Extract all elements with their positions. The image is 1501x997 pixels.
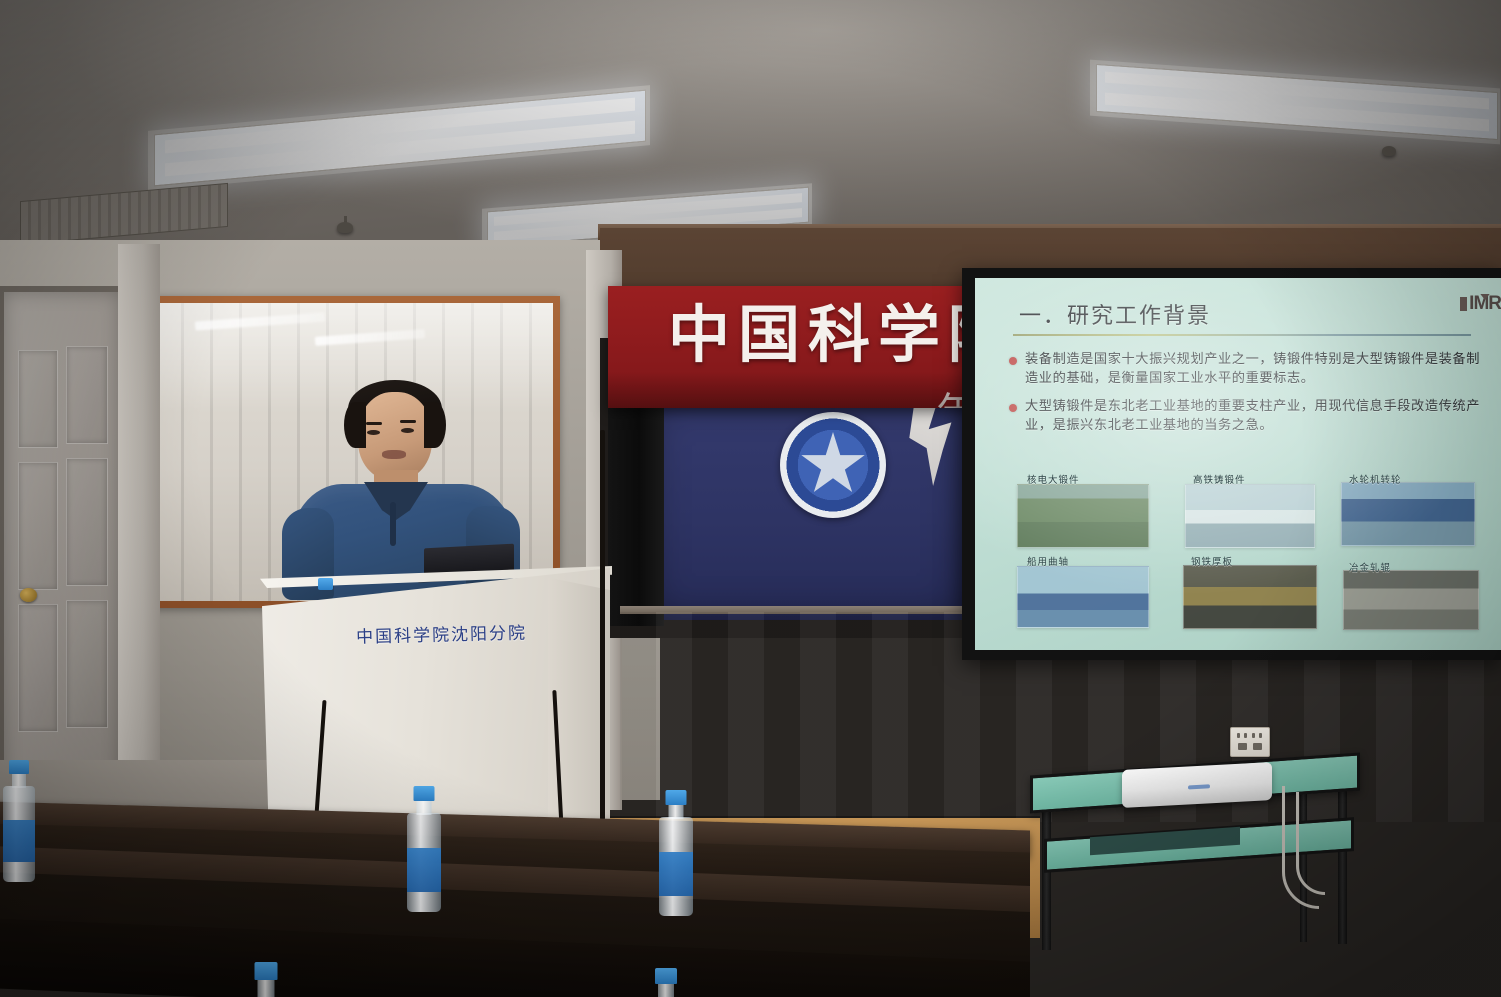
presenter-hair-right: [424, 402, 446, 448]
outlet-slot-3: [1252, 733, 1255, 738]
cas-star-glyph: [800, 432, 866, 498]
projection-screen: 一．研究工作背景 IMR 装备制造是国家十大振兴规划产业之一，铸锻件特别是大型铸…: [975, 278, 1501, 650]
bottle-cap: [655, 968, 677, 984]
gallery-photo-1: [1017, 484, 1149, 548]
door-panel-bottom-left: [18, 604, 58, 732]
bullet-dot-icon: [1009, 404, 1017, 412]
gallery-photo-4: [1017, 566, 1149, 628]
slide-bullet-text-2: 大型铸锻件是东北老工业基地的重要支柱产业，用现代信息手段改造传统产业，是振兴东北…: [1025, 397, 1487, 435]
slide-bullet-item: 大型铸锻件是东北老工业基地的重要支柱产业，用现代信息手段改造传统产业，是振兴东北…: [1009, 397, 1487, 435]
banner-fold-shadow: [608, 372, 980, 408]
slide-bullet-text-1: 装备制造是国家十大振兴规划产业之一，铸锻件特别是大型铸锻件是装备制造业的基础，是…: [1025, 350, 1487, 388]
door-panel-top-left: [18, 350, 58, 448]
imr-logo: IMR: [1460, 294, 1501, 314]
bottle-neck: [658, 984, 674, 997]
slide-bullet-item: 装备制造是国家十大振兴规划产业之一，铸锻件特别是大型铸锻件是装备制造业的基础，是…: [1009, 350, 1487, 388]
gallery-label-3: 水轮机转轮: [1349, 472, 1402, 486]
bottle-cap: [255, 962, 278, 980]
wall-power-outlet[interactable]: [1230, 727, 1270, 757]
outlet-slot-1: [1237, 733, 1240, 738]
white-av-unit[interactable]: [1122, 762, 1272, 808]
presenter-eye-left: [367, 430, 380, 435]
presenter-mouth: [382, 450, 406, 459]
imr-logo-square: [1460, 297, 1467, 311]
gallery-label-6: 冶金轧辊: [1349, 560, 1391, 574]
banner-text: 中国科学院: [668, 304, 980, 366]
door-panel-mid-left: [18, 462, 58, 590]
cas-emblem: [780, 412, 886, 518]
presenter-brow-right: [400, 420, 416, 423]
gallery-label-5: 钢铁厚板: [1191, 554, 1233, 568]
conference-room-photo: 中国科学院 年 一．研究工作背景 IMR 装备制造是国家十大振兴规划产业之一，铸…: [0, 0, 1501, 997]
water-bottle[interactable]: [0, 760, 38, 882]
presenter-hair-left: [344, 402, 366, 448]
gallery-label-2: 高铁铸锻件: [1193, 472, 1246, 486]
gallery-cell-ship: 船用曲轴: [999, 554, 1157, 632]
slide-image-gallery: 核电大锻件 高铁铸锻件 水轮机转轮 船用曲轴 钢铁厚板 冶金轧辊: [999, 470, 1493, 626]
av-table-leg-right: [1338, 774, 1347, 944]
presenter-brow-left: [366, 422, 382, 425]
gallery-photo-5: [1183, 565, 1317, 629]
podium-bottle-cap: [318, 578, 333, 590]
white-panel-door[interactable]: [4, 292, 120, 784]
outlet-socket-right: [1253, 743, 1262, 750]
outlet-socket-left: [1238, 743, 1247, 750]
slide-title-underline: [1013, 334, 1471, 336]
presenter-placket: [390, 502, 396, 546]
door-panel-mid-right: [66, 458, 108, 586]
outlet-slot-2: [1244, 733, 1247, 738]
av-cable-2: [1296, 792, 1325, 895]
gallery-cell-steel: 钢铁厚板: [1171, 554, 1329, 632]
slide-title: 一．研究工作背景: [1019, 298, 1211, 330]
bottle-cap: [666, 790, 687, 805]
gallery-photo-6: [1343, 570, 1479, 630]
water-bottle-partial[interactable]: [246, 962, 286, 997]
av-unit-indicator: [1188, 784, 1210, 789]
bullet-dot-icon: [1009, 357, 1017, 365]
door-panel-bottom-right: [66, 600, 108, 728]
bottle-label: [407, 848, 441, 892]
presenter-eye-right: [401, 428, 414, 433]
red-event-banner: 中国科学院 年: [608, 286, 980, 408]
bottle-label: [3, 820, 35, 862]
gallery-label-1: 核电大锻件: [1027, 472, 1080, 486]
bottle-label: [659, 852, 693, 896]
gallery-photo-2: [1185, 484, 1315, 548]
water-bottle[interactable]: [656, 790, 696, 916]
slide-bullet-list: 装备制造是国家十大振兴规划产业之一，铸锻件特别是大型铸锻件是装备制造业的基础，是…: [1009, 350, 1487, 445]
bottle-cap: [9, 760, 29, 774]
gallery-cell-turbine: 水轮机转轮: [1339, 470, 1497, 548]
gallery-label-4: 船用曲轴: [1027, 554, 1069, 568]
door-panel-top-right: [66, 346, 108, 444]
door-knob[interactable]: [20, 588, 37, 602]
presenter-head: [358, 392, 432, 480]
wall-pillar-left: [118, 244, 160, 819]
bottle-neck: [258, 980, 275, 997]
water-bottle-partial[interactable]: [646, 968, 686, 997]
gallery-cell-train: 高铁铸锻件: [1171, 470, 1329, 548]
outlet-slot-4: [1259, 733, 1262, 738]
water-bottle[interactable]: [404, 786, 444, 912]
imr-logo-triangle: [1478, 294, 1492, 300]
gallery-cell-roll: 冶金轧辊: [1339, 554, 1497, 632]
gallery-photo-3: [1341, 482, 1475, 546]
floor-cable-3: [600, 430, 605, 820]
bottle-cap: [414, 786, 435, 801]
gallery-cell-nuclear: 核电大锻件: [999, 470, 1157, 548]
